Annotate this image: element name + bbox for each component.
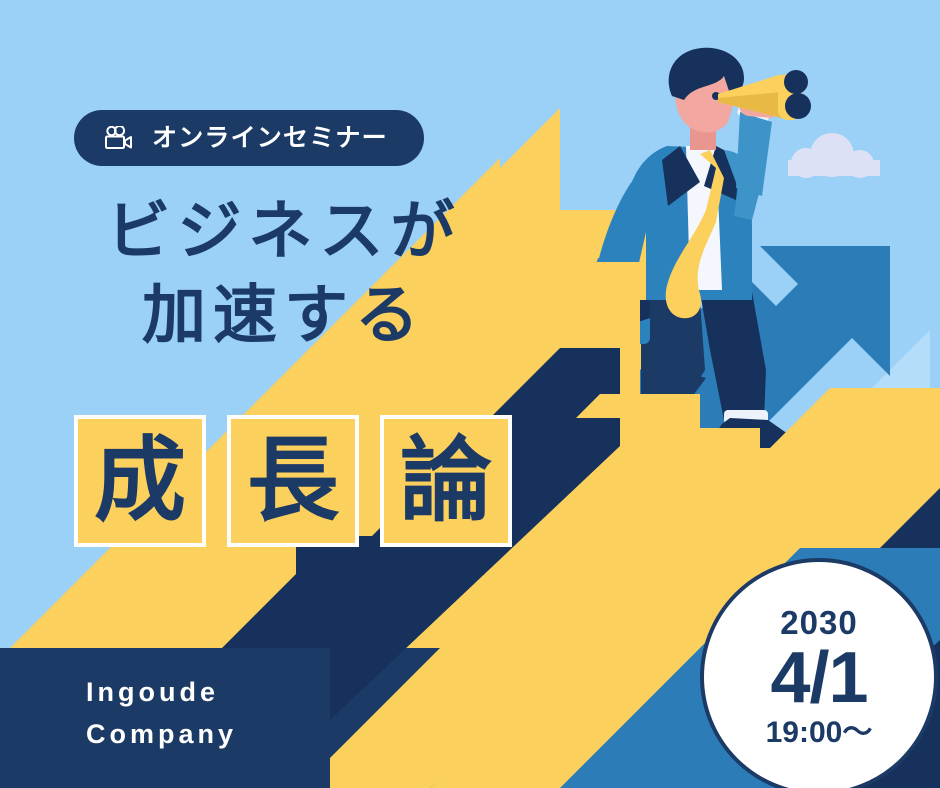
- seminar-banner: オンラインセミナー ビジネスが 加速する 成 長 論 2030 4/1 19:0…: [0, 0, 940, 788]
- headline-line-2: 加速する: [0, 280, 560, 352]
- date-time: 19:00〜: [766, 718, 873, 748]
- page-title: ビジネスが 加速する: [0, 196, 560, 351]
- online-seminar-badge: オンラインセミナー: [74, 110, 424, 166]
- kanji-char-1: 成: [94, 435, 186, 527]
- telescope-lens-top: [784, 70, 808, 94]
- company-name: Ingoude Company: [86, 672, 237, 756]
- video-camera-icon: [104, 126, 134, 150]
- badge-label: オンラインセミナー: [152, 126, 388, 151]
- company-name-line-2: Company: [86, 714, 237, 756]
- company-name-line-1: Ingoude: [86, 672, 237, 714]
- date-year: 2030: [780, 606, 857, 639]
- date-badge: 2030 4/1 19:00〜: [700, 558, 938, 788]
- kanji-char-3: 論: [400, 435, 492, 527]
- kanji-char-2: 長: [247, 435, 339, 527]
- telescope-lens-bottom: [785, 93, 811, 119]
- kanji-box-1: 成: [74, 415, 206, 547]
- headline-line-1: ビジネスが: [0, 196, 560, 268]
- date-day: 4/1: [770, 641, 867, 717]
- kanji-box-2: 長: [227, 415, 359, 547]
- kanji-box-3: 論: [380, 415, 512, 547]
- keyword-boxes: 成 長 論: [74, 415, 512, 547]
